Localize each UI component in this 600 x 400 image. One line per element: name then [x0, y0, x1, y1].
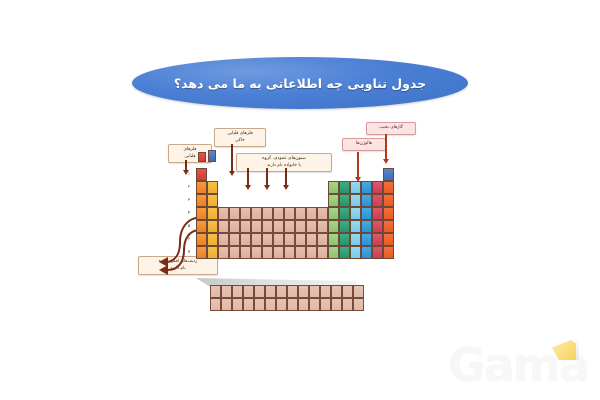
flag-icon [552, 340, 578, 360]
element-cell [339, 181, 350, 194]
element-cell [262, 233, 273, 246]
element-cell [317, 220, 328, 233]
swatch-hydrogen [198, 152, 206, 162]
f-block-cell [265, 298, 276, 311]
page-title: جدول تناوبی چه اطلاعاتی به ما می دهد؟ [174, 76, 426, 91]
element-cell [262, 220, 273, 233]
f-block-cell [320, 298, 331, 311]
element-cell [339, 246, 350, 259]
element-cell [306, 246, 317, 259]
element-cell [218, 220, 229, 233]
element-cell [361, 246, 372, 259]
f-block-cell [287, 298, 298, 311]
element-cell [218, 207, 229, 220]
period-number-1: ۱ [185, 171, 193, 176]
watermark: Gama [448, 336, 598, 396]
element-cell [306, 233, 317, 246]
f-block-cell [309, 285, 320, 298]
element-cell [284, 246, 295, 259]
element-cell [218, 233, 229, 246]
element-cell [328, 194, 339, 207]
period-number-3: ۳ [185, 197, 193, 202]
element-cell [196, 207, 207, 220]
element-cell [328, 207, 339, 220]
f-block-cell [265, 285, 276, 298]
periodic-table-diagram: فلزهای قلیایی فلزهای قلیایی خاکی ستون‌ها… [130, 120, 470, 335]
pin-icon [576, 336, 579, 360]
element-cell [262, 246, 273, 259]
f-block-cell [210, 285, 221, 298]
element-cell [207, 246, 218, 259]
f-block-cell [276, 285, 287, 298]
f-block-cell [298, 285, 309, 298]
element-cell [251, 207, 262, 220]
element-cell [295, 220, 306, 233]
element-cell [273, 233, 284, 246]
element-cell [251, 246, 262, 259]
element-cell [383, 233, 394, 246]
f-block-cell [353, 285, 364, 298]
callout-groups-line1: ستون‌های عمودی، گروه [240, 156, 328, 163]
element-cell [229, 233, 240, 246]
element-cell [273, 246, 284, 259]
period-number-2: ۲ [185, 184, 193, 189]
f-block-cell [254, 285, 265, 298]
element-cell [383, 220, 394, 233]
slide-canvas: جدول تناوبی چه اطلاعاتی به ما می دهد؟ فل… [0, 0, 600, 400]
element-cell [350, 207, 361, 220]
element-cell [317, 233, 328, 246]
element-cell [372, 246, 383, 259]
f-block-cell [287, 285, 298, 298]
element-cell [361, 207, 372, 220]
title-ellipse: جدول تناوبی چه اطلاعاتی به ما می دهد؟ [132, 57, 468, 109]
element-cell [196, 233, 207, 246]
element-cell [229, 246, 240, 259]
period-number-4: ۴ [185, 210, 193, 215]
f-block-cell [210, 298, 221, 311]
element-cell [372, 181, 383, 194]
element-cell [196, 194, 207, 207]
element-cell [207, 194, 218, 207]
element-cell [240, 220, 251, 233]
element-cell [284, 220, 295, 233]
callout-groups-line2: یا خانواده نام دارند [240, 163, 328, 170]
element-cell [339, 220, 350, 233]
callout-alkaline-line2: خاکی [218, 138, 262, 145]
element-cell [383, 194, 394, 207]
f-block-cell [243, 298, 254, 311]
period-number-5: ۵ [185, 223, 193, 228]
period-number-6: ۶ [185, 236, 193, 241]
element-cell [229, 220, 240, 233]
element-cell [295, 233, 306, 246]
element-cell [328, 181, 339, 194]
element-cell [350, 194, 361, 207]
element-cell [383, 246, 394, 259]
element-cell [284, 207, 295, 220]
element-cell [207, 220, 218, 233]
element-cell [328, 220, 339, 233]
f-block-cell [331, 285, 342, 298]
f-block-cell [232, 285, 243, 298]
element-cell [251, 220, 262, 233]
element-cell [361, 194, 372, 207]
element-cell [328, 233, 339, 246]
f-block-cell [298, 298, 309, 311]
element-cell [383, 207, 394, 220]
swatch-helium [208, 150, 216, 162]
f-block-cell [232, 298, 243, 311]
element-cell [350, 246, 361, 259]
f-block-cell [342, 285, 353, 298]
element-cell [339, 233, 350, 246]
f-block-cell [221, 285, 232, 298]
element-cell [372, 220, 383, 233]
element-cell [306, 207, 317, 220]
element-cell [350, 220, 361, 233]
f-block-cell [243, 285, 254, 298]
element-cell [273, 207, 284, 220]
watermark-text: Gama [448, 338, 588, 392]
element-cell [295, 246, 306, 259]
f-block-cell [254, 298, 265, 311]
callout-noble-text: گازهای نجیب [370, 125, 412, 132]
element-cell [317, 246, 328, 259]
callout-groups-columns: ستون‌های عمودی، گروه یا خانواده نام دارن… [236, 153, 332, 172]
element-cell [328, 246, 339, 259]
element-cell [262, 207, 273, 220]
element-cell [295, 207, 306, 220]
element-cell [383, 168, 394, 181]
f-block-cell [309, 298, 320, 311]
element-cell [196, 246, 207, 259]
element-cell [361, 233, 372, 246]
element-cell [240, 246, 251, 259]
element-cell [339, 207, 350, 220]
element-cell [218, 246, 229, 259]
element-cell [207, 181, 218, 194]
element-cell [240, 233, 251, 246]
callout-noble-gases: گازهای نجیب [366, 122, 416, 135]
f-block-cell [342, 298, 353, 311]
element-cell [350, 181, 361, 194]
element-cell [306, 220, 317, 233]
f-block-cell [353, 298, 364, 311]
element-cell [339, 194, 350, 207]
element-cell [361, 220, 372, 233]
element-cell [372, 233, 383, 246]
element-cell [229, 207, 240, 220]
element-cell [372, 207, 383, 220]
element-cell [383, 181, 394, 194]
element-cell [350, 233, 361, 246]
callout-halogen-text: هالوژن‌ها [346, 141, 382, 148]
element-cell [284, 233, 295, 246]
element-cell [273, 220, 284, 233]
callout-halogens: هالوژن‌ها [342, 138, 386, 151]
element-cell [317, 207, 328, 220]
f-block-cell [320, 285, 331, 298]
element-cell [196, 168, 207, 181]
element-cell [196, 181, 207, 194]
f-block-cell [221, 298, 232, 311]
element-cell [372, 194, 383, 207]
f-block-cell [276, 298, 287, 311]
period-number-7: ۷ [185, 249, 193, 254]
f-block-cell [331, 298, 342, 311]
callout-alkaline-earth-metals: فلزهای قلیایی خاکی [214, 128, 266, 147]
element-cell [240, 207, 251, 220]
element-cell [196, 220, 207, 233]
element-cell [251, 233, 262, 246]
element-cell [361, 181, 372, 194]
callout-alkaline-line1: فلزهای قلیایی [218, 131, 262, 138]
element-cell [207, 207, 218, 220]
element-cell [207, 233, 218, 246]
